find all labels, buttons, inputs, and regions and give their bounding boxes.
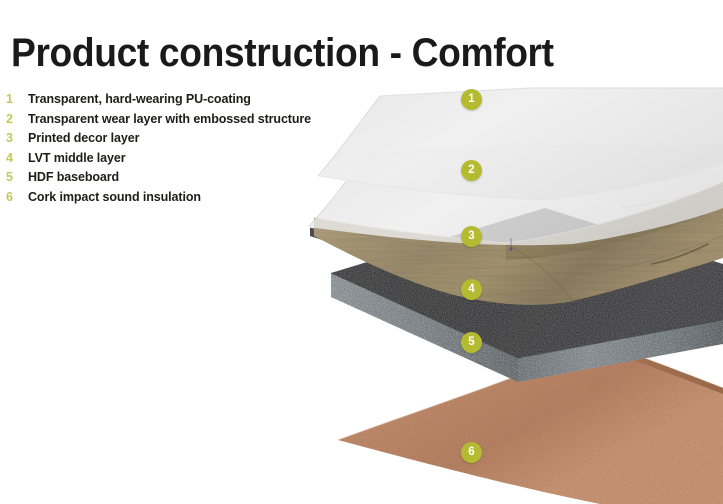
legend-list: 1 Transparent, hard-wearing PU-coating 2… (4, 92, 334, 209)
legend-number-4: 4 (4, 151, 28, 165)
legend-item-2: 2 Transparent wear layer with embossed s… (4, 112, 334, 132)
legend-number-2: 2 (4, 112, 28, 126)
legend-label-4: LVT middle layer (28, 151, 126, 165)
layer-badge-4[interactable]: 4 (461, 279, 482, 300)
legend-label-3: Printed decor layer (28, 131, 139, 145)
legend-number-1: 1 (4, 92, 28, 106)
legend-label-1: Transparent, hard-wearing PU-coating (28, 92, 251, 106)
exploded-layer-diagram: 1 2 3 4 5 6 (300, 58, 723, 504)
page-root: Product construction - Comfort 1 Transpa… (0, 0, 723, 504)
layer-badge-3[interactable]: 3 (461, 226, 482, 247)
legend-item-1: 1 Transparent, hard-wearing PU-coating (4, 92, 334, 112)
legend-item-4: 4 LVT middle layer (4, 151, 334, 171)
layer-badge-1[interactable]: 1 (461, 89, 482, 110)
legend-number-5: 5 (4, 170, 28, 184)
legend-item-5: 5 HDF baseboard (4, 170, 334, 190)
layer-badge-5[interactable]: 5 (461, 332, 482, 353)
legend-item-3: 3 Printed decor layer (4, 131, 334, 151)
legend-number-6: 6 (4, 190, 28, 204)
layer-badge-6[interactable]: 6 (461, 442, 482, 463)
legend-number-3: 3 (4, 131, 28, 145)
legend-label-6: Cork impact sound insulation (28, 190, 201, 204)
legend-label-5: HDF baseboard (28, 170, 119, 184)
legend-label-2: Transparent wear layer with embossed str… (28, 112, 311, 126)
layer-badge-2[interactable]: 2 (461, 160, 482, 181)
legend-item-6: 6 Cork impact sound insulation (4, 190, 334, 210)
